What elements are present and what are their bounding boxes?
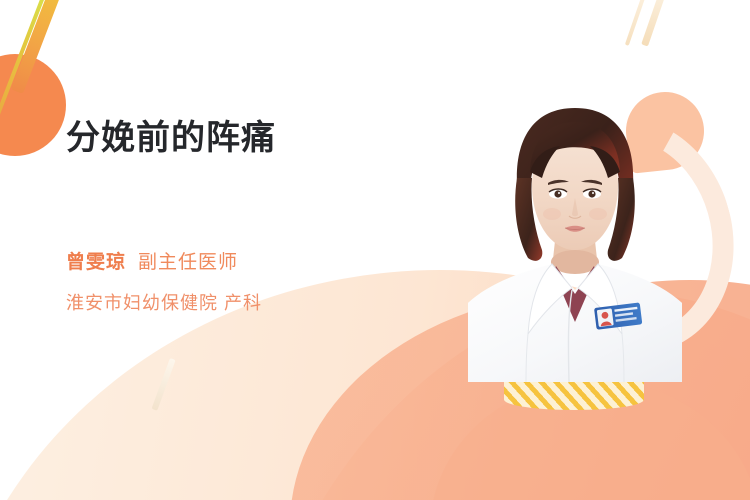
orange-circle-decoration: [0, 54, 66, 156]
doctor-rank: 副主任医师: [138, 252, 238, 273]
title-block: 分娩前的阵痛: [66, 118, 436, 159]
doctor-credit-block: 曾雯琼副主任医师 淮安市妇幼保健院 产科: [66, 248, 466, 317]
page-title: 分娩前的阵痛: [66, 118, 436, 159]
doctor-affiliation: 淮安市妇幼保健院 产科: [66, 289, 466, 317]
portrait-group: [448, 72, 750, 402]
doctor-name: 曾雯琼: [66, 252, 126, 273]
doctor-photo: [468, 82, 682, 382]
cream-stroke-top-right-b-icon: [641, 0, 670, 46]
doctor-name-line: 曾雯琼副主任医师: [66, 248, 466, 279]
doctor-intro-card: 分娩前的阵痛 曾雯琼副主任医师 淮安市妇幼保健院 产科: [0, 0, 750, 500]
